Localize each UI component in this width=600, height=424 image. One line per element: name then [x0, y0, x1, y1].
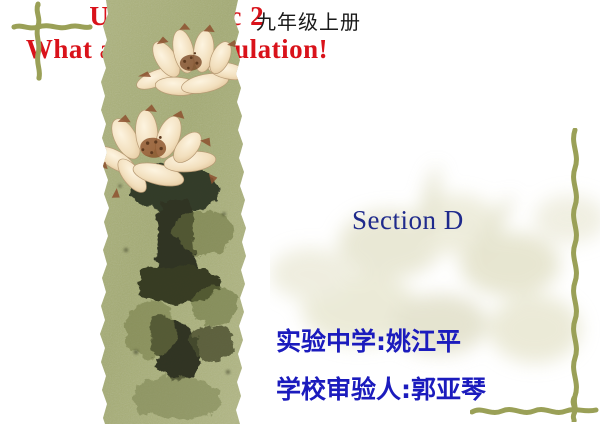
grade-label: 九年级上册	[256, 6, 361, 35]
vertical-vine-ornament-icon	[560, 128, 590, 412]
credit-checker: 学校审验人:郭亚琴	[276, 370, 486, 406]
lotus-ink-painting-scroll	[96, 0, 248, 424]
credit-teacher: 实验中学:姚江平	[276, 322, 461, 358]
horizontal-vine-ornament-icon	[470, 396, 600, 422]
presentation-slide: 九年级上册 Unit 1 Topic 2 What a large popula…	[0, 0, 600, 424]
section-label: Section D	[352, 205, 464, 236]
